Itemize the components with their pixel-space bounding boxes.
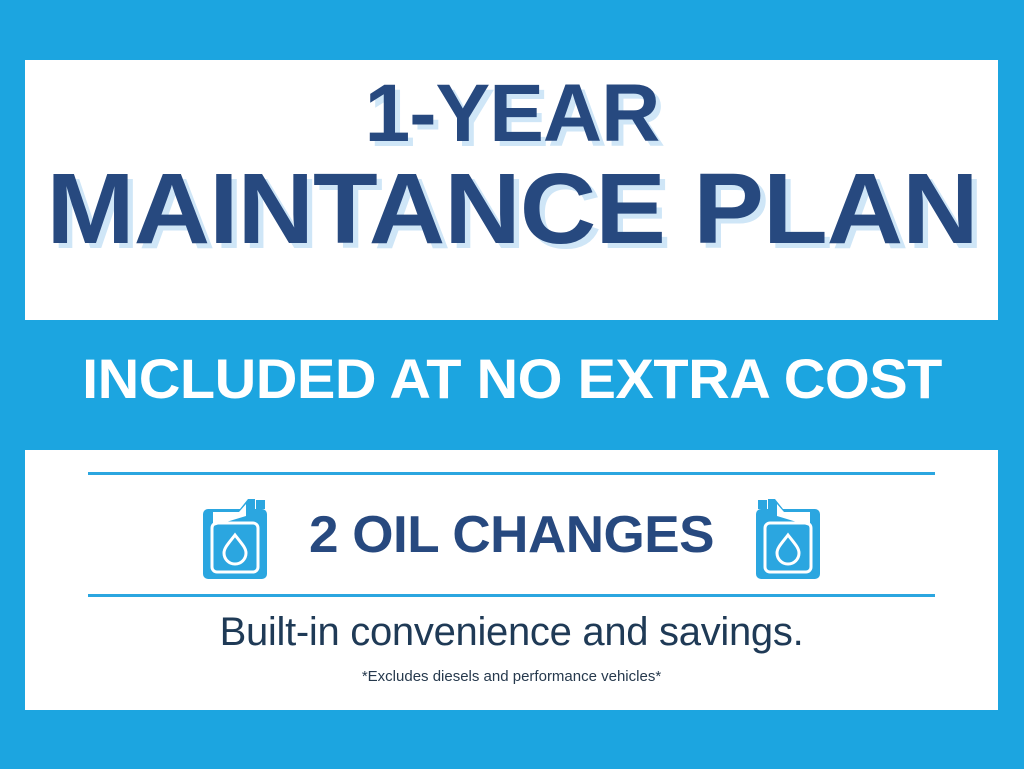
headline-line-2: MAINTANCE PLAN bbox=[0, 160, 1024, 258]
divider-top bbox=[88, 472, 935, 475]
offer-label: 2 OIL CHANGES bbox=[309, 505, 714, 565]
oil-jug-icon-right bbox=[754, 489, 822, 581]
headline-card: 1-YEAR MAINTANCE PLAN bbox=[25, 60, 998, 320]
headline-line-1: 1-YEAR bbox=[0, 74, 1024, 154]
subtitle-banner: INCLUDED AT NO EXTRA COST bbox=[0, 346, 1024, 411]
promo-poster: 1-YEAR MAINTANCE PLAN INCLUDED AT NO EXT… bbox=[0, 0, 1024, 769]
divider-bottom bbox=[88, 594, 935, 597]
offer-row: 2 OIL CHANGES bbox=[25, 482, 998, 588]
offer-card: 2 OIL CHANGES Built-in convenience and s… bbox=[25, 450, 998, 710]
oil-jug-icon-left bbox=[201, 489, 269, 581]
tagline: Built-in convenience and savings. bbox=[25, 610, 998, 655]
disclaimer: *Excludes diesels and performance vehicl… bbox=[25, 668, 998, 685]
